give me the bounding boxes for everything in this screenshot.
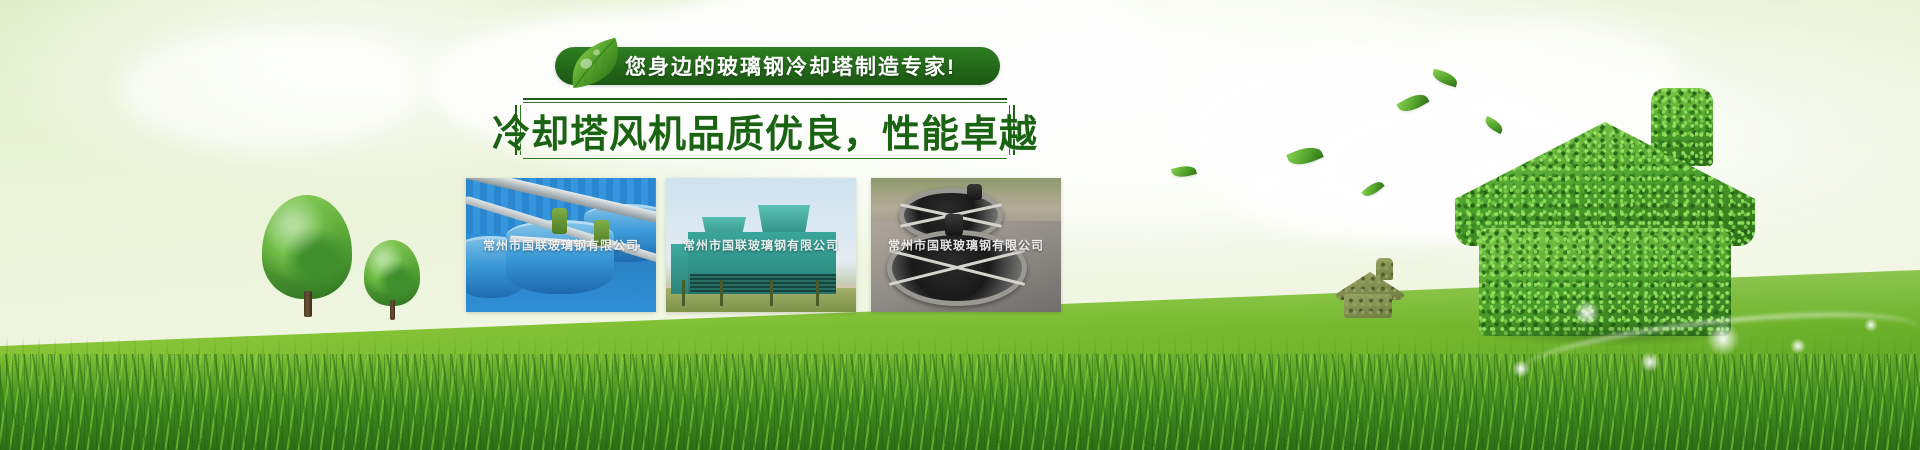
headline-text: 冷却塔风机品质优良，性能卓越 [533,104,997,156]
photo-tree [770,280,773,306]
product-photo[interactable]: 常州市国联玻璃钢有限公司 [871,178,1061,312]
sparkle-icon [1706,322,1740,356]
photo-motor [552,208,567,234]
frame-bottom-rule [523,158,1007,161]
chimney-shape [1376,258,1393,280]
photo-watermark: 常州市国联玻璃钢有限公司 [466,237,656,254]
tagline-banner: 您身边的玻璃钢冷却塔制造专家! [555,45,1000,87]
house-body-shape [1479,228,1731,336]
photo-watermark: 常州市国联玻璃钢有限公司 [871,237,1061,254]
photo-tree [720,280,723,306]
photo-fan-motor [945,214,963,236]
tree-icon [262,195,352,299]
sparkle-icon [1574,300,1600,326]
cloud-decoration [120,30,420,150]
tree-icon [364,240,420,306]
product-photo[interactable]: 常州市国联玻璃钢有限公司 [466,178,656,312]
small-grass-house [1336,258,1404,318]
photo-tree [682,280,685,306]
promo-banner: 您身边的玻璃钢冷却塔制造专家! 冷却塔风机品质优良，性能卓越 常州市国联玻璃钢有… [0,0,1920,450]
sparkle-icon [1864,318,1878,332]
tree-large [262,195,352,317]
sparkle-icon [1790,338,1806,354]
photo-tree [816,280,819,306]
sparkle-icon [1640,352,1660,372]
leaf-icon [1171,163,1197,179]
photo-watermark: 常州市国联玻璃钢有限公司 [666,237,856,254]
product-photo[interactable]: 常州市国联玻璃钢有限公司 [666,178,856,312]
photo-tower-stack [758,205,810,235]
tree-trunk [390,300,395,320]
photo-fan-motor [967,184,982,200]
tree-small [364,240,420,320]
headline-frame: 冷却塔风机品质优良，性能卓越 [515,98,1015,161]
house-body-shape [1344,294,1392,318]
sparkle-icon [1512,360,1530,378]
photo-tower-louver [690,274,836,292]
tagline-text: 您身边的玻璃钢冷却塔制造专家! [625,47,997,85]
tree-trunk [304,291,312,317]
